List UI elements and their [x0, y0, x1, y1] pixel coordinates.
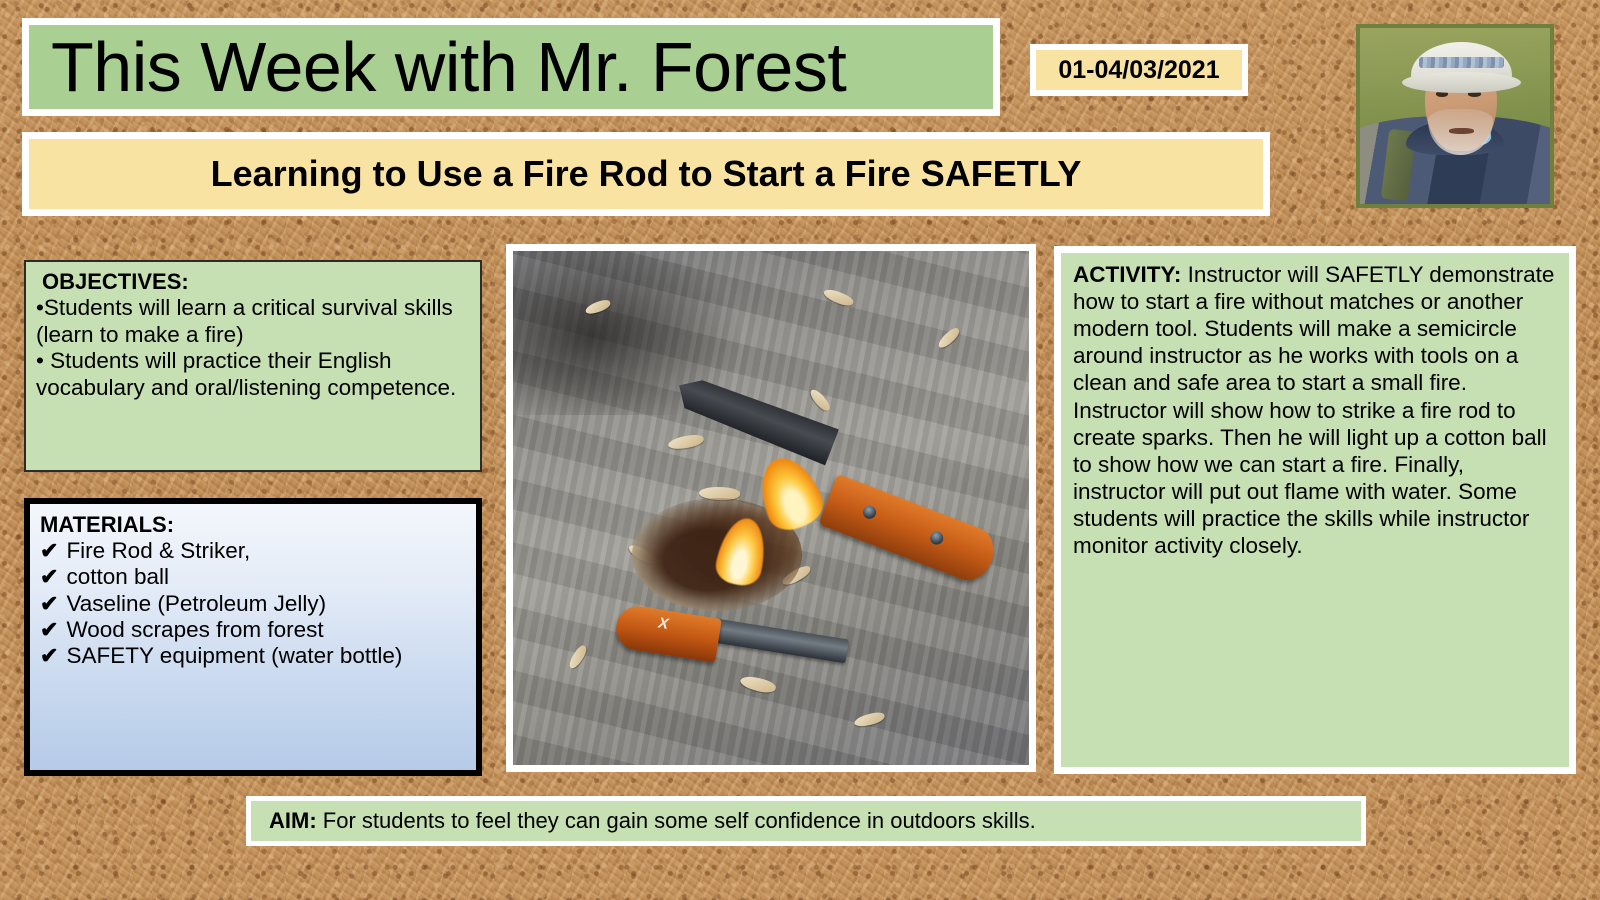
- wood-shaving: [566, 644, 589, 671]
- activity-heading: ACTIVITY:: [1073, 262, 1181, 287]
- aim-panel: AIM: For students to feel they can gain …: [246, 796, 1366, 846]
- materials-item-label: Wood scrapes from forest: [66, 617, 323, 643]
- portrait-mouth: [1449, 128, 1474, 134]
- portrait-hat-brim: [1402, 72, 1522, 93]
- wood-shaving: [667, 434, 704, 451]
- check-icon: ✔: [40, 564, 58, 590]
- cork-board-background: This Week with Mr. Forest 01-04/03/2021 …: [0, 0, 1600, 900]
- check-icon: ✔: [40, 591, 58, 617]
- wood-shaving: [808, 387, 832, 414]
- materials-item-label: cotton ball: [66, 564, 169, 590]
- objectives-bullet-1: •Students will learn a critical survival…: [36, 295, 470, 348]
- ferro-rod-cap: [613, 603, 722, 662]
- check-icon: ✔: [40, 538, 58, 564]
- materials-item-label: Vaseline (Petroleum Jelly): [66, 591, 326, 617]
- subtitle-box: Learning to Use a Fire Rod to Start a Fi…: [22, 132, 1270, 216]
- instructor-portrait-photo: [1360, 28, 1550, 204]
- list-item: ✔ cotton ball: [40, 564, 468, 590]
- page-title: This Week with Mr. Forest: [29, 32, 846, 102]
- knife-blade: [671, 370, 839, 465]
- objectives-heading: OBJECTIVES:: [36, 269, 470, 295]
- list-item: ✔ SAFETY equipment (water bottle): [40, 643, 468, 669]
- check-icon: ✔: [40, 643, 58, 669]
- fire-rod-photo-frame: [506, 244, 1036, 772]
- materials-item-label: SAFETY equipment (water bottle): [66, 643, 402, 669]
- subtitle-text: Learning to Use a Fire Rod to Start a Fi…: [211, 153, 1082, 195]
- instructor-portrait-frame: [1356, 24, 1554, 208]
- date-badge: 01-04/03/2021: [1030, 44, 1248, 96]
- aim-body: For students to feel they can gain some …: [317, 808, 1036, 833]
- materials-heading: MATERIALS:: [40, 512, 468, 538]
- aim-text: AIM: For students to feel they can gain …: [269, 808, 1036, 834]
- list-item: ✔ Fire Rod & Striker,: [40, 538, 468, 564]
- list-item: ✔ Vaseline (Petroleum Jelly): [40, 591, 468, 617]
- ferro-rod-shaft: [713, 618, 849, 662]
- materials-item-label: Fire Rod & Striker,: [66, 538, 250, 564]
- wood-shaving: [936, 326, 962, 350]
- wood-shaving: [822, 286, 855, 309]
- wood-shaving: [739, 673, 777, 696]
- wood-shaving: [853, 710, 886, 727]
- check-icon: ✔: [40, 617, 58, 643]
- activity-text: ACTIVITY: Instructor will SAFETLY demons…: [1073, 261, 1559, 559]
- portrait-hat-band: [1419, 57, 1505, 68]
- activity-panel: ACTIVITY: Instructor will SAFETLY demons…: [1054, 246, 1576, 774]
- fire-rod-photo: [513, 251, 1029, 765]
- aim-heading: AIM:: [269, 808, 317, 833]
- date-badge-text: 01-04/03/2021: [1058, 56, 1219, 85]
- knife-handle: [818, 474, 1001, 587]
- page-title-box: This Week with Mr. Forest: [22, 18, 1000, 116]
- objectives-panel: OBJECTIVES: •Students will learn a criti…: [24, 260, 482, 472]
- objectives-bullet-2: • Students will practice their English v…: [36, 348, 470, 401]
- list-item: ✔ Wood scrapes from forest: [40, 617, 468, 643]
- activity-body: Instructor will SAFETLY demonstrate how …: [1073, 262, 1554, 558]
- materials-panel: MATERIALS: ✔ Fire Rod & Striker, ✔ cotto…: [24, 498, 482, 776]
